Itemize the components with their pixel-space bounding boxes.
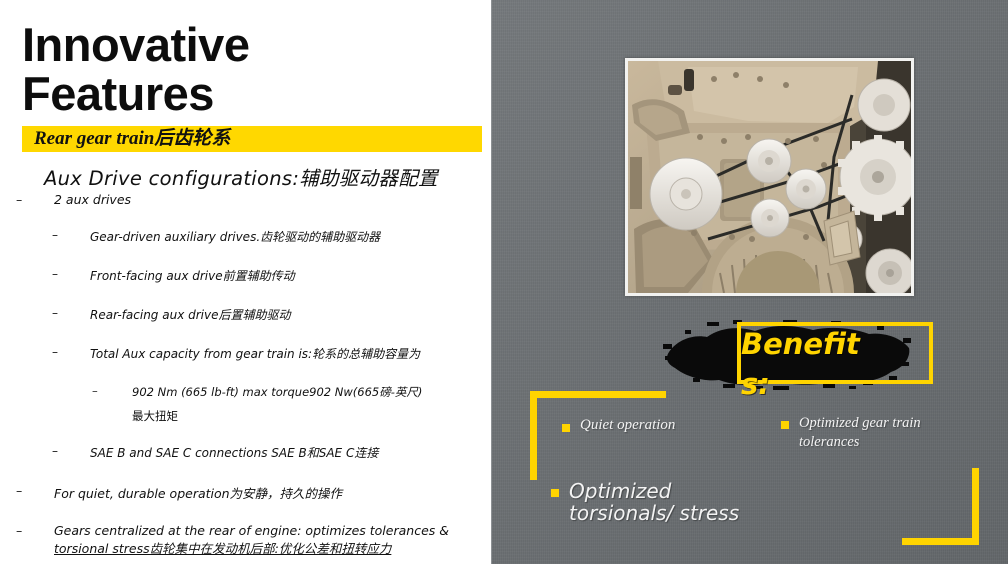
bullet-dash: – <box>52 228 58 242</box>
section-subheading: Aux Drive configurations:辅助驱动器配置 <box>44 162 438 191</box>
bullet-text: 902 Nm (665 lb-ft) max torque902 Nw(665磅… <box>132 384 492 400</box>
benefit-item-quiet-operation: Quiet operation <box>562 417 742 434</box>
bullet-item: – Gear-driven auxiliary drives.齿轮驱动的辅助驱动… <box>52 228 492 245</box>
bullet-text: Gear-driven auxiliary drives.齿轮驱动的辅助驱动器 <box>90 228 492 245</box>
bullet-item: – Rear-facing aux drive后置辅助驱动 <box>52 306 492 323</box>
bullet-dash: – <box>92 384 98 398</box>
bullet-item: – Front-facing aux drive前置辅助传动 <box>52 267 492 284</box>
bullet-item: – 2 aux drives <box>16 192 492 207</box>
bullet-item: – 902 Nm (665 lb-ft) max torque902 Nw(66… <box>92 384 492 400</box>
engine-photo <box>628 61 911 293</box>
bullet-text: 2 aux drives <box>54 192 492 207</box>
bullet-text: For quiet, durable operation为安静，持久的操作 <box>54 483 492 502</box>
benefit-item-optimized-torsionals: Optimized torsionals/ stress <box>551 480 781 524</box>
left-content-panel: Innovative Features Rear gear train后齿轮系 … <box>0 0 492 564</box>
bullet-item: – For quiet, durable operation为安静，持久的操作 <box>16 483 492 502</box>
bullet-item: – SAE B and SAE C connections SAE B和SAE … <box>52 444 492 461</box>
benefits-title: Benefit s: <box>741 324 891 404</box>
bullet-item: – Total Aux capacity from gear train is:… <box>52 345 492 362</box>
benefit-item-gear-train-tolerances: Optimized gear train tolerances <box>781 414 956 452</box>
bullet-list: – 2 aux drives – Gear-driven auxiliary d… <box>0 192 492 564</box>
bullet-text-second-line: torsional stress齿轮集中在发动机后部:优化公差和扭转应力 <box>54 538 492 557</box>
benefit-item-label: Quiet operation <box>562 417 742 434</box>
page-title-line-2: Features <box>22 69 482 118</box>
page-title-line-1: Innovative <box>22 20 482 69</box>
engine-photo-illustration <box>628 61 911 293</box>
bullet-dash: – <box>16 523 22 538</box>
slide: Innovative Features Rear gear train后齿轮系 … <box>0 0 1008 564</box>
benefit-item-label: Optimized torsionals/ stress <box>551 480 781 524</box>
bracket-top-left-vertical <box>530 391 537 480</box>
bullet-dash: – <box>52 267 58 281</box>
bullet-continuation-text: 最大扭矩 <box>132 408 492 424</box>
bullet-dash: – <box>52 345 58 359</box>
bracket-top-left-horizontal <box>530 391 666 398</box>
benefits-title-line-2: s: <box>741 367 770 401</box>
highlight-bar-label: Rear gear train后齿轮系 <box>34 126 230 152</box>
bracket-bottom-right-horizontal <box>902 538 979 545</box>
benefits-title-line-1: Benefit <box>741 327 860 361</box>
bullet-text: Total Aux capacity from gear train is:轮系… <box>90 345 492 362</box>
square-bullet-icon <box>551 489 559 497</box>
square-bullet-icon <box>562 424 570 432</box>
bullet-dash: – <box>52 444 58 458</box>
bracket-bottom-right-vertical <box>972 468 979 545</box>
bullet-text: Gears centralized at the rear of engine:… <box>54 523 492 538</box>
engine-photo-frame <box>625 58 914 296</box>
bullet-item: – Gears centralized at the rear of engin… <box>16 523 492 557</box>
page-title: Innovative Features <box>22 20 482 118</box>
bullet-text: Rear-facing aux drive后置辅助驱动 <box>90 306 492 323</box>
benefit-item-label: Optimized gear train tolerances <box>781 414 956 452</box>
bullet-dash: – <box>16 192 22 207</box>
bullet-text: SAE B and SAE C connections SAE B和SAE C连… <box>90 444 492 461</box>
bullet-dash: – <box>16 483 22 498</box>
bullet-text: Front-facing aux drive前置辅助传动 <box>90 267 492 284</box>
bullet-dash: – <box>52 306 58 320</box>
square-bullet-icon <box>781 421 789 429</box>
